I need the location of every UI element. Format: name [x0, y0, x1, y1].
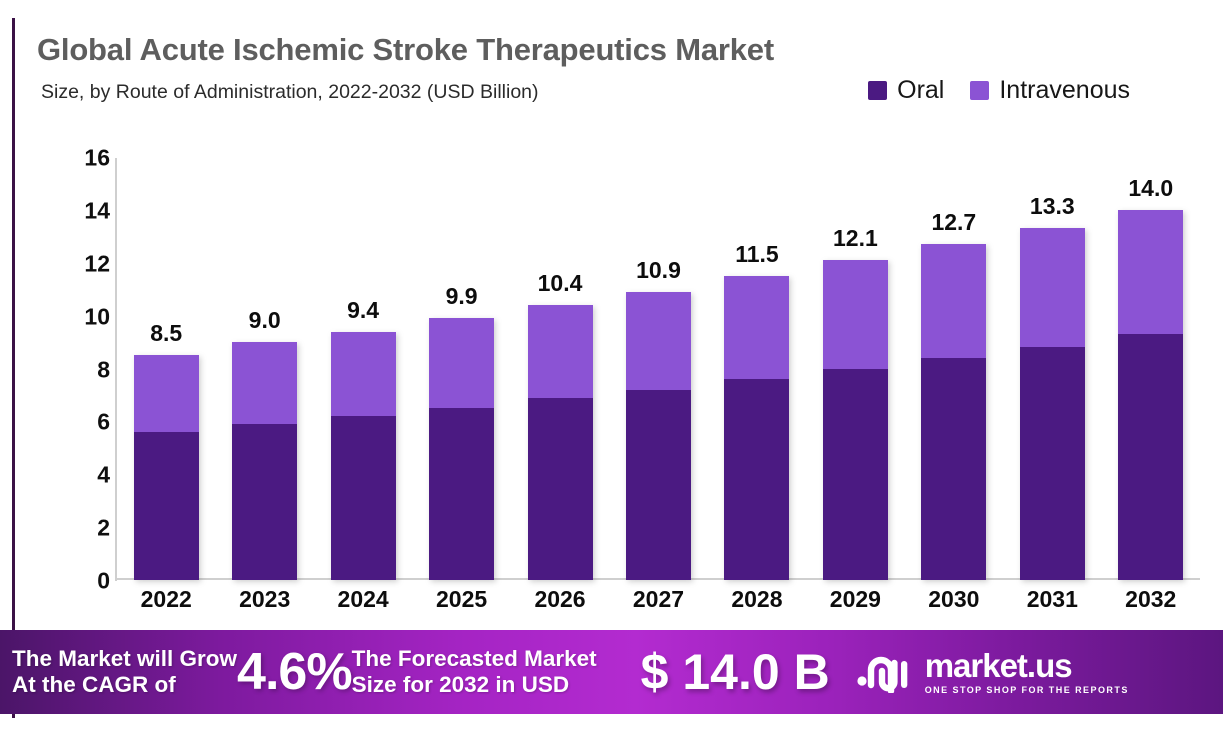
stacked-bar-2023[interactable] — [232, 342, 297, 580]
forecast-block: The Forecasted Market Size for 2032 in U… — [352, 643, 830, 701]
bar-group-2024[interactable]: 9.4 — [314, 138, 412, 580]
bar-segment-oral-2024[interactable] — [331, 416, 396, 580]
logo-name: market.us — [925, 649, 1129, 682]
y-axis-tick-14: 14 — [50, 197, 110, 224]
bar-segment-oral-2028[interactable] — [724, 379, 789, 580]
stacked-bar-2024[interactable] — [331, 332, 396, 581]
x-axis-tick-2032: 2032 — [1102, 586, 1200, 613]
stacked-bar-2031[interactable] — [1020, 228, 1085, 580]
bar-segment-oral-2029[interactable] — [823, 369, 888, 581]
logo-tagline: ONE STOP SHOP FOR THE REPORTS — [925, 685, 1129, 695]
bar-group-2025[interactable]: 9.9 — [413, 138, 511, 580]
bar-segment-intravenous-2032[interactable] — [1118, 210, 1183, 334]
bar-group-2032[interactable]: 14.0 — [1102, 138, 1200, 580]
x-axis-tick-2024: 2024 — [314, 586, 412, 613]
bar-segment-oral-2032[interactable] — [1118, 334, 1183, 580]
bar-value-label-2025: 9.9 — [413, 283, 511, 310]
bar-series-container: 8.59.09.49.910.410.911.512.112.713.314.0 — [117, 138, 1200, 580]
y-axis-tick-2: 2 — [50, 515, 110, 542]
bar-value-label-2027: 10.9 — [609, 257, 707, 284]
cagr-value: 4.6% — [237, 642, 352, 702]
x-axis-tick-2030: 2030 — [905, 586, 1003, 613]
y-axis-tick-0: 0 — [50, 568, 110, 595]
bar-value-label-2030: 12.7 — [905, 209, 1003, 236]
stacked-bar-2025[interactable] — [429, 318, 494, 580]
y-axis-tick-12: 12 — [50, 250, 110, 277]
x-axis-tick-2026: 2026 — [511, 586, 609, 613]
x-axis-ticks: 2022202320242025202620272028202920302031… — [117, 586, 1200, 613]
infographic-root: Global Acute Ischemic Stroke Therapeutic… — [0, 0, 1223, 742]
page-title: Global Acute Ischemic Stroke Therapeutic… — [37, 32, 774, 68]
stacked-bar-2029[interactable] — [823, 260, 888, 580]
bar-value-label-2022: 8.5 — [117, 320, 215, 347]
chart-legend: Oral Intravenous — [868, 76, 1130, 105]
bar-segment-intravenous-2023[interactable] — [232, 342, 297, 424]
stacked-bar-2027[interactable] — [626, 292, 691, 580]
bar-segment-oral-2027[interactable] — [626, 390, 691, 580]
forecast-value: $ 14.0 B — [641, 643, 830, 701]
x-axis-tick-2029: 2029 — [806, 586, 904, 613]
plot-area: 0246810121416 8.59.09.49.910.410.911.512… — [100, 138, 1205, 598]
y-axis-tick-4: 4 — [50, 462, 110, 489]
bar-value-label-2024: 9.4 — [314, 297, 412, 324]
bar-segment-oral-2023[interactable] — [232, 424, 297, 580]
bar-value-label-2031: 13.3 — [1003, 193, 1101, 220]
bar-group-2028[interactable]: 11.5 — [708, 138, 806, 580]
bar-group-2023[interactable]: 9.0 — [216, 138, 314, 580]
x-axis-tick-2027: 2027 — [609, 586, 707, 613]
legend-swatch-intravenous — [970, 81, 989, 100]
bar-group-2027[interactable]: 10.9 — [609, 138, 707, 580]
bar-segment-intravenous-2028[interactable] — [724, 276, 789, 379]
bar-segment-intravenous-2022[interactable] — [134, 355, 199, 432]
bar-segment-oral-2025[interactable] — [429, 408, 494, 580]
bar-group-2022[interactable]: 8.5 — [117, 138, 215, 580]
bar-segment-intravenous-2024[interactable] — [331, 332, 396, 417]
legend-label-intravenous: Intravenous — [999, 76, 1130, 105]
bar-segment-intravenous-2026[interactable] — [528, 305, 593, 398]
footer-banner: The Market will Grow At the CAGR of 4.6%… — [0, 630, 1223, 714]
cagr-block: The Market will Grow At the CAGR of 4.6% — [0, 642, 352, 702]
chart-card: Global Acute Ischemic Stroke Therapeutic… — [15, 18, 1210, 626]
stacked-bar-2032[interactable] — [1118, 210, 1183, 580]
bar-segment-intravenous-2025[interactable] — [429, 318, 494, 408]
y-axis-tick-6: 6 — [50, 409, 110, 436]
bar-segment-oral-2030[interactable] — [921, 358, 986, 580]
bar-value-label-2028: 11.5 — [708, 241, 806, 268]
x-axis-tick-2031: 2031 — [1003, 586, 1101, 613]
bar-value-label-2026: 10.4 — [511, 270, 609, 297]
bar-group-2031[interactable]: 13.3 — [1003, 138, 1101, 580]
logo-wordmark: market.us ONE STOP SHOP FOR THE REPORTS — [925, 649, 1129, 695]
legend-label-oral: Oral — [897, 76, 944, 105]
page-subtitle: Size, by Route of Administration, 2022-2… — [41, 81, 539, 104]
x-axis-tick-2025: 2025 — [413, 586, 511, 613]
y-axis-tick-10: 10 — [50, 303, 110, 330]
x-axis-tick-2028: 2028 — [708, 586, 806, 613]
bar-value-label-2029: 12.1 — [806, 225, 904, 252]
market-us-logo[interactable]: market.us ONE STOP SHOP FOR THE REPORTS — [856, 649, 1129, 695]
legend-item-oral[interactable]: Oral — [868, 76, 944, 105]
stacked-bar-2026[interactable] — [528, 305, 593, 580]
y-axis-tick-8: 8 — [50, 356, 110, 383]
legend-item-intravenous[interactable]: Intravenous — [970, 76, 1130, 105]
stacked-bar-2030[interactable] — [921, 244, 986, 580]
bar-group-2029[interactable]: 12.1 — [806, 138, 904, 580]
y-axis-tick-16: 16 — [50, 145, 110, 172]
x-axis-tick-2023: 2023 — [216, 586, 314, 613]
legend-swatch-oral — [868, 81, 887, 100]
bar-segment-intravenous-2027[interactable] — [626, 292, 691, 390]
bar-value-label-2032: 14.0 — [1102, 175, 1200, 202]
bar-segment-intravenous-2029[interactable] — [823, 260, 888, 368]
bar-value-label-2023: 9.0 — [216, 307, 314, 334]
bar-segment-intravenous-2030[interactable] — [921, 244, 986, 358]
cagr-caption: The Market will Grow At the CAGR of — [12, 646, 237, 699]
forecast-caption: The Forecasted Market Size for 2032 in U… — [352, 646, 597, 699]
bar-group-2026[interactable]: 10.4 — [511, 138, 609, 580]
market-us-logo-icon — [856, 651, 914, 693]
bar-segment-oral-2022[interactable] — [134, 432, 199, 580]
bar-segment-oral-2031[interactable] — [1020, 347, 1085, 580]
bar-segment-intravenous-2031[interactable] — [1020, 228, 1085, 347]
bar-segment-oral-2026[interactable] — [528, 398, 593, 580]
stacked-bar-2028[interactable] — [724, 276, 789, 580]
x-axis-tick-2022: 2022 — [117, 586, 215, 613]
stacked-bar-2022[interactable] — [134, 355, 199, 580]
bar-group-2030[interactable]: 12.7 — [905, 138, 1003, 580]
